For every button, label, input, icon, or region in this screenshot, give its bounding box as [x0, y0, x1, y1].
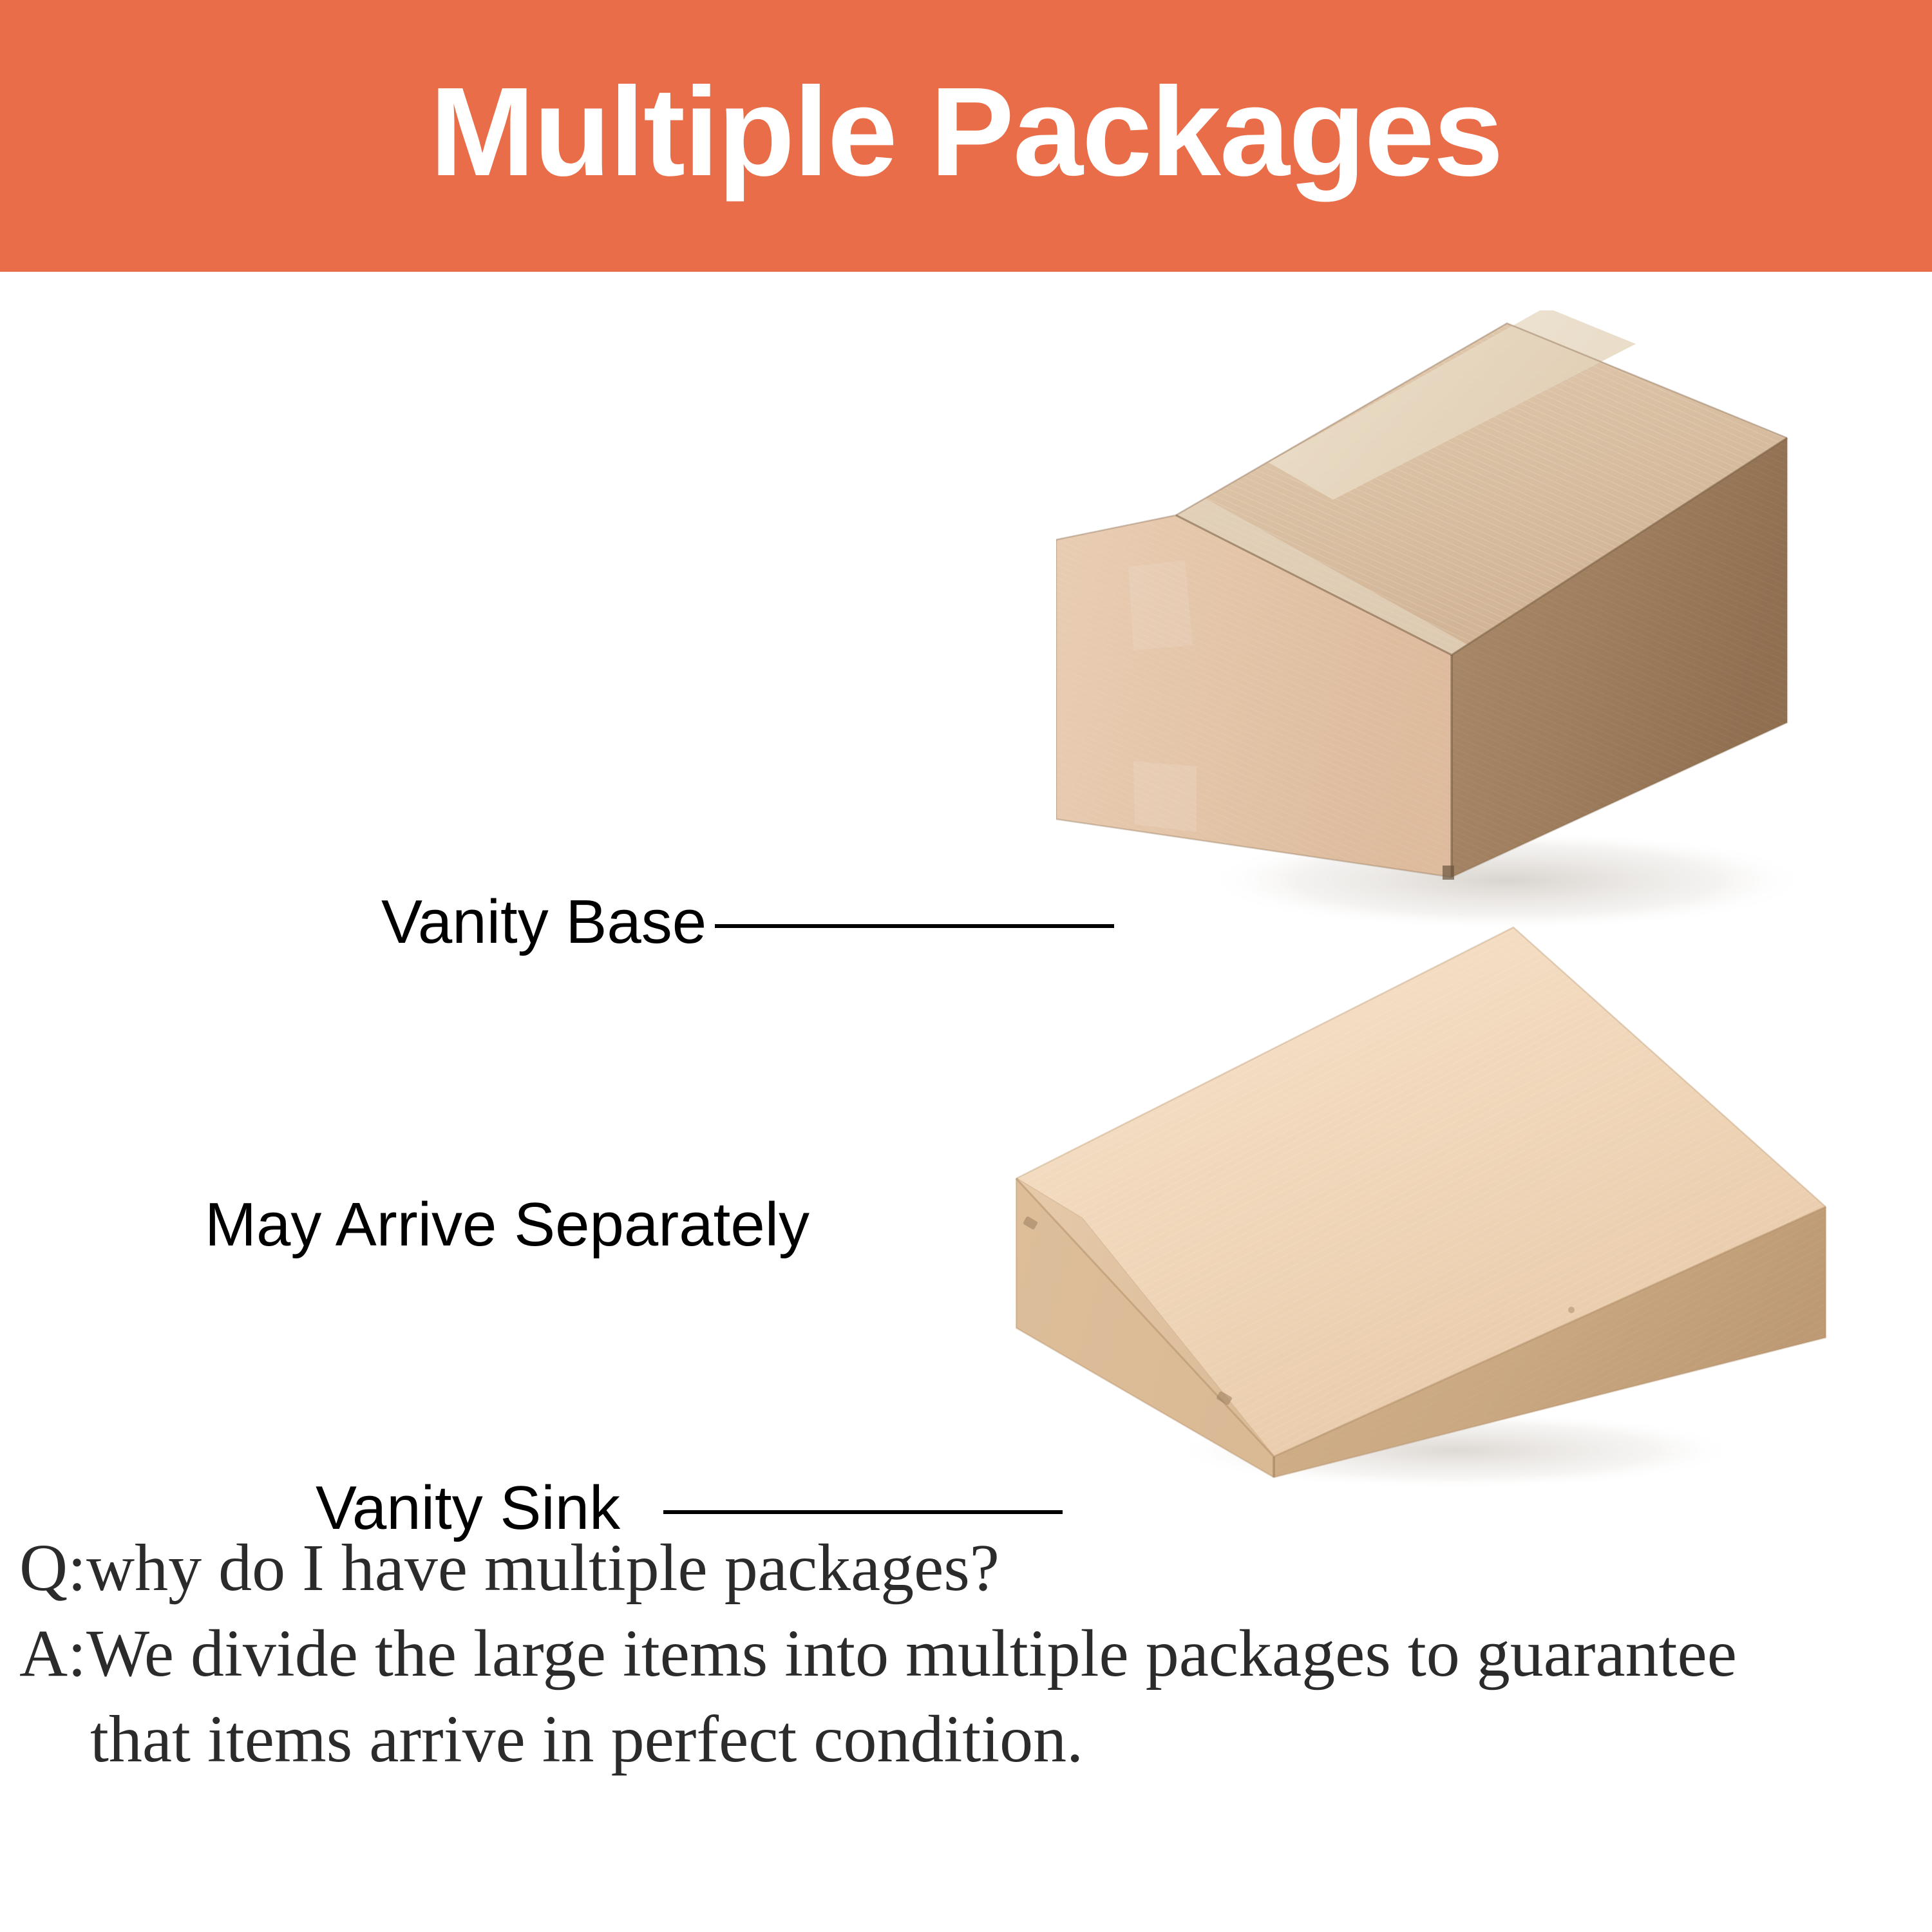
- package-box-vanity-sink: [1005, 916, 1861, 1495]
- callout-label-vanity-base: Vanity Base: [381, 891, 706, 953]
- upper-box-corner-staple: [1443, 866, 1454, 880]
- callout-label-may-arrive-separately: May Arrive Separately: [205, 1194, 810, 1256]
- upper-box-label-patch-bottom: [1133, 761, 1197, 832]
- package-box-vanity-base: [1056, 310, 1893, 954]
- faq-block: Q:why do I have multiple packages? A:We …: [0, 1525, 1932, 1782]
- faq-answer-line-1: A:We divide the large items into multipl…: [0, 1611, 1932, 1696]
- faq-answer-line-2: that items arrive in perfect condition.: [0, 1696, 1932, 1782]
- upper-box-label-patch-top: [1128, 560, 1193, 650]
- header-banner: Multiple Packages: [0, 0, 1932, 272]
- leader-line-vanity-sink: [663, 1510, 1063, 1514]
- vanity-sink-carton-illustration: [1005, 916, 1861, 1495]
- page-title: Multiple Packages: [430, 69, 1502, 195]
- faq-question: Q:why do I have multiple packages?: [0, 1525, 1932, 1611]
- vanity-base-carton-illustration: [1056, 310, 1893, 954]
- lower-box-pin-dot: [1568, 1307, 1575, 1313]
- illustration-stage: Vanity Base May Arrive Separately Vanity…: [0, 272, 1932, 1521]
- leader-line-vanity-base: [715, 924, 1114, 928]
